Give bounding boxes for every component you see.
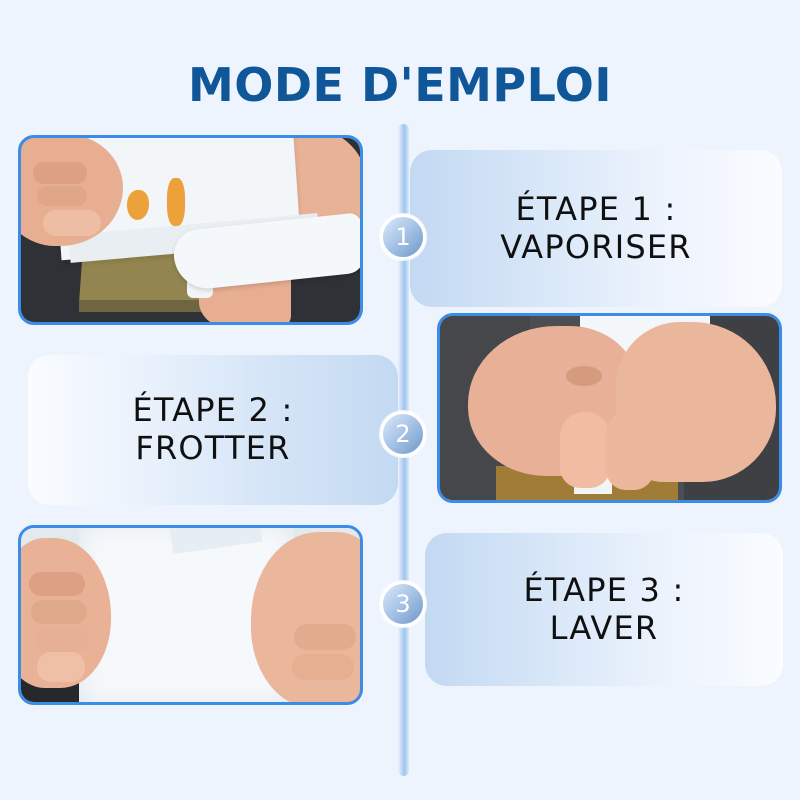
step-1-text-card: ÉTAPE 1 : VAPORISER — [410, 150, 782, 307]
photo-1-finger-2 — [37, 186, 87, 206]
step-1-number: 1 — [395, 223, 410, 251]
step-2-badge: 2 — [380, 411, 426, 457]
step-1-badge: 1 — [380, 214, 426, 260]
photo-3-finger-2 — [31, 600, 87, 624]
photo-2-finger-left — [560, 412, 610, 488]
photo-3-thumb — [37, 652, 85, 682]
photo-1-finger-1 — [33, 162, 87, 184]
step-3-photo — [18, 525, 363, 705]
step-3-text-card: ÉTAPE 3 : LAVER — [425, 533, 783, 686]
step-2-label: ÉTAPE 2 : FROTTER — [133, 392, 294, 468]
instructions-infographic: MODE D'EMPLOI ÉTAPE 1 : VAPORISER 1 — [0, 0, 800, 800]
photo-3-right-finger-2 — [292, 654, 354, 680]
photo-3-right-finger-1 — [294, 624, 356, 650]
step-1-label: ÉTAPE 1 : VAPORISER — [500, 191, 691, 267]
step-1-photo — [18, 135, 363, 325]
step-3-number: 3 — [395, 590, 410, 618]
photo-1-belt-shadow — [79, 300, 219, 312]
step-2-number: 2 — [395, 420, 410, 448]
photo-1-stain-right — [167, 178, 185, 226]
step-2-photo-scene — [440, 316, 779, 500]
photo-2-knuckle — [566, 366, 602, 386]
photo-3-finger-3 — [33, 628, 89, 652]
step-1-photo-scene — [21, 138, 360, 322]
step-3-badge: 3 — [380, 581, 426, 627]
page-title: MODE D'EMPLOI — [0, 58, 800, 112]
step-3-photo-scene — [21, 528, 360, 702]
step-2-photo — [437, 313, 782, 503]
step-2-text-card: ÉTAPE 2 : FROTTER — [28, 355, 398, 505]
step-3-label: ÉTAPE 3 : LAVER — [524, 572, 685, 648]
photo-2-finger-right — [606, 410, 654, 490]
photo-3-finger-1 — [29, 572, 85, 596]
photo-1-thumb — [43, 210, 101, 236]
